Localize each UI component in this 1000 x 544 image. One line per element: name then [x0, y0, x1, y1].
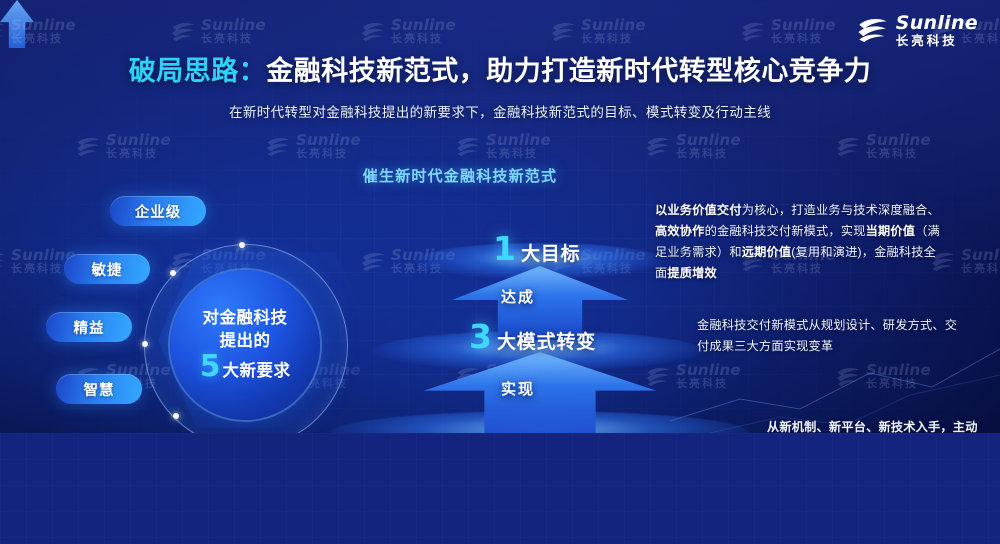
watermark-text-cn: 长亮科技 — [296, 149, 361, 160]
core-line-3: 5 大新要求 — [200, 352, 291, 382]
sunline-swoosh-icon — [856, 14, 889, 47]
pill-label: 智慧 — [84, 379, 115, 400]
pyramid-row-number: 3 — [469, 320, 492, 353]
watermark-text-cn: 长亮科技 — [106, 149, 171, 160]
description-action-line: 从新机制、新平台、新技术入手，主动 — [767, 417, 1000, 433]
desc-emph-4: 远期价值 — [742, 245, 792, 259]
core-circle: 对金融科技 提出的 5 大新要求 — [170, 270, 320, 420]
watermark-text: Sunline长亮科技 — [296, 133, 361, 160]
watermark-text: Sunline长亮科技 — [676, 133, 741, 160]
presentation-slide: Sunline长亮科技Sunline长亮科技Sunline长亮科技Sunline… — [0, 0, 1000, 544]
slide-header: 破局思路：金融科技新范式，助力打造新时代转型核心竞争力 在新时代转型对金融科技提… — [0, 0, 1000, 121]
watermark-text: Sunline长亮科技 — [961, 248, 1000, 275]
pill-label: 企业级 — [135, 201, 182, 222]
watermark-text-en: Sunline — [296, 133, 361, 148]
watermark-item: Sunline长亮科技 — [645, 133, 741, 160]
pill-label: 敏捷 — [92, 259, 123, 280]
desc-emph-1: 以业务价值交付 — [655, 203, 742, 217]
watermark-item: Sunline长亮科技 — [455, 133, 551, 160]
section-title: 催生新时代金融科技新范式 — [130, 165, 790, 186]
orbit-dot — [239, 242, 245, 248]
page-title: 破局思路：金融科技新范式，助力打造新时代转型核心竞争力 — [0, 49, 1000, 88]
watermark-text: Sunline长亮科技 — [486, 133, 551, 160]
core-line-1: 对金融科技 — [203, 308, 288, 329]
watermark-item: Sunline长亮科技 — [835, 133, 931, 160]
section-title-label: 催生新时代金融科技新范式 — [363, 168, 557, 185]
sunline-swoosh-icon — [645, 134, 671, 160]
watermark-text-cn: 长亮科技 — [486, 149, 551, 160]
logo-text: Sunline 长亮科技 — [896, 14, 978, 48]
pyramid-row-goal: 1 大目标 — [493, 232, 580, 266]
requirement-pill-lean[interactable]: 精益 — [46, 312, 132, 342]
logo-text-en: Sunline — [896, 14, 978, 33]
watermark-text-cn: 长亮科技 — [866, 149, 931, 160]
pyramid-row-label: 大目标 — [521, 239, 580, 266]
requirement-pill-smart[interactable]: 智慧 — [56, 374, 142, 404]
watermark-text-en: Sunline — [961, 248, 1000, 263]
brand-logo: Sunline 长亮科技 — [856, 14, 978, 48]
description-transform: 金融科技交付新模式从规划设计、研发方式、交付成果三大方面实现变革 — [697, 315, 959, 357]
watermark-text-en: Sunline — [106, 133, 171, 148]
sunline-swoosh-icon — [0, 249, 6, 275]
pyramid-row-number: 1 — [493, 232, 516, 265]
desc-emph-2: 高效协作 — [655, 224, 705, 238]
watermark-text-en: Sunline — [676, 133, 741, 148]
bottom-band — [0, 433, 1000, 544]
desc-part-2: 的金融科技交付新模式，实现 — [705, 224, 866, 238]
watermark-text-cn: 长亮科技 — [676, 149, 741, 160]
desc-part-1: 为核心，打造业务与技术深度融合、 — [742, 203, 940, 217]
pyramid-connector-achieve: 达成 — [501, 286, 535, 307]
orbit-dot — [170, 270, 176, 276]
pyramid-row-label: 大模式转变 — [497, 327, 596, 354]
sunline-swoosh-icon — [265, 134, 291, 160]
core-line-3-label: 大新要求 — [222, 357, 290, 381]
pill-label: 精益 — [74, 317, 105, 338]
requirement-pill-enterprise[interactable]: 企业级 — [110, 196, 206, 226]
orbit-dot — [173, 413, 179, 419]
watermark-item: Sunline长亮科技 — [75, 133, 171, 160]
watermark-text-en: Sunline — [866, 133, 931, 148]
watermark-item: Sunline长亮科技 — [265, 133, 361, 160]
page-title-accent: 破局思路： — [129, 56, 267, 86]
slide-content-stage: Sunline长亮科技Sunline长亮科技Sunline长亮科技Sunline… — [0, 0, 1000, 433]
requirement-pill-agile[interactable]: 敏捷 — [64, 254, 150, 284]
sunline-swoosh-icon — [360, 249, 386, 275]
pyramid-row-transform: 3 大模式转变 — [469, 320, 596, 354]
watermark-text: Sunline长亮科技 — [866, 133, 931, 160]
pyramid-connector-realize: 实现 — [501, 378, 535, 399]
sunline-swoosh-icon — [455, 134, 481, 160]
desc-emph-5: 提质增效 — [667, 266, 717, 280]
logo-text-cn: 长亮科技 — [896, 35, 978, 48]
core-number: 5 — [200, 352, 221, 382]
sunline-swoosh-icon — [645, 364, 671, 390]
page-subtitle: 在新时代转型对金融科技提出的新要求下，金融科技新范式的目标、模式转变及行动主线 — [0, 101, 1000, 121]
sunline-swoosh-icon — [835, 134, 861, 160]
watermark-text-en: Sunline — [486, 133, 551, 148]
watermark-text: Sunline长亮科技 — [106, 133, 171, 160]
desc-emph-3: 当期价值 — [866, 224, 916, 238]
page-title-rest: 金融科技新范式，助力打造新时代转型核心竞争力 — [266, 56, 871, 86]
description-goal: 以业务价值交付为核心，打造业务与技术深度融合、高效协作的金融科技交付新模式，实现… — [655, 200, 947, 284]
orbit-dot — [142, 341, 148, 347]
core-line-2: 提出的 — [220, 331, 271, 352]
watermark-text-cn: 长亮科技 — [961, 264, 1000, 275]
sunline-swoosh-icon — [75, 134, 101, 160]
